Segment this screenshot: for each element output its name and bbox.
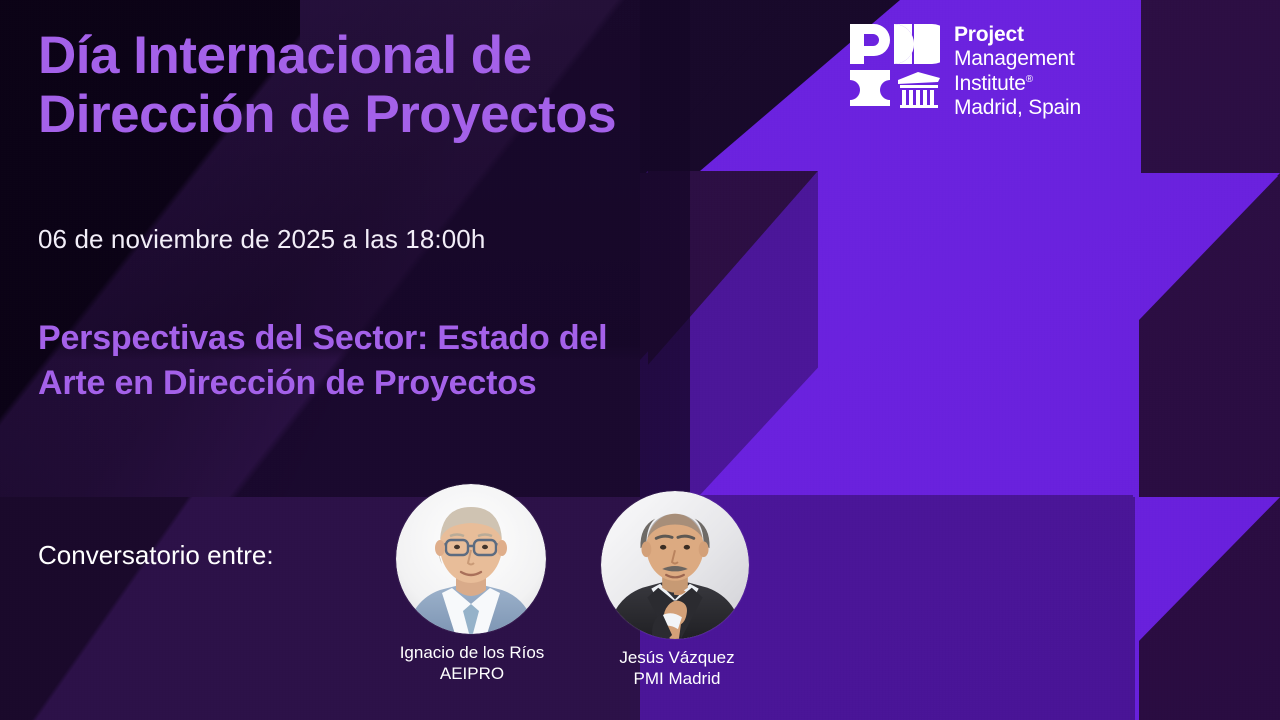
logo-line-chapter: Madrid, Spain [954, 96, 1081, 120]
speaker-org-2: PMI Madrid [601, 668, 753, 689]
registered-mark: ® [1026, 74, 1033, 85]
pmi-logo-mark [848, 22, 940, 108]
page-title: Día Internacional de Dirección de Proyec… [38, 26, 658, 145]
speaker-card-2: Jesús Vázquez PMI Madrid [601, 491, 753, 690]
speaker-name-2: Jesús Vázquez [601, 647, 753, 668]
logo-line-management: Management [954, 47, 1081, 71]
pmi-logo-text: Project Management Institute® Madrid, Sp… [954, 22, 1081, 120]
speaker-card-1: Ignacio de los Ríos AEIPRO [396, 484, 548, 685]
portrait-illustration-1 [396, 484, 546, 634]
logo-line-institute: Institute® [954, 72, 1081, 96]
pmi-logo: Project Management Institute® Madrid, Sp… [848, 22, 1081, 120]
event-subtitle: Perspectivas del Sector: Estado del Arte… [38, 316, 638, 406]
logo-line-project: Project [954, 23, 1081, 47]
avatar-ignacio-de-los-rios [396, 484, 546, 634]
conversation-label: Conversatorio entre: [38, 540, 274, 571]
event-date: 06 de noviembre de 2025 a las 18:00h [38, 224, 485, 255]
speaker-name-1: Ignacio de los Ríos [396, 642, 548, 663]
event-poster: Día Internacional de Dirección de Proyec… [0, 0, 1280, 720]
speaker-org-1: AEIPRO [396, 663, 548, 684]
portrait-illustration-2 [601, 491, 749, 639]
avatar-jesus-vazquez [601, 491, 749, 639]
